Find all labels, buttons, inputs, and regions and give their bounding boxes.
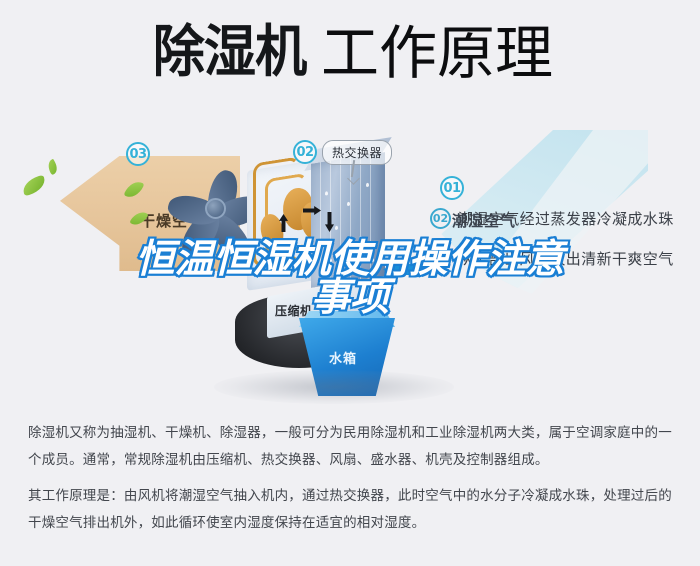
legend-item-label: 潮湿空气经过蒸发器冷凝成水珠 <box>458 208 674 229</box>
article-body: 除湿机又称为抽湿机、干燥机、除湿器，一般可分为民用除湿机和工业除湿机两大类，属于… <box>28 420 676 546</box>
title-bold-part: 除湿机 <box>153 25 306 81</box>
water-tank-label: 水箱 <box>329 348 357 367</box>
badge-02-icon: 02 <box>293 140 317 164</box>
legend-item-label: 由风机将潮湿空气抽入机内 <box>458 168 643 189</box>
water-droplet <box>366 183 369 187</box>
water-droplet <box>335 226 338 230</box>
infographic-page: 除湿机工作原理 干燥空气 <box>0 0 700 566</box>
legend-item: 02 潮湿空气经过蒸发器冷凝成水珠 <box>430 208 698 229</box>
badge-03-icon: 03 <box>126 142 150 166</box>
title-regular-part: 工作原理 <box>321 24 553 82</box>
water-droplet <box>325 191 328 195</box>
article-paragraph-1: 除湿机又称为抽湿机、干燥机、除湿器，一般可分为民用除湿机和工业除湿机两大类，属于… <box>28 420 676 474</box>
page-header: 除湿机工作原理 <box>0 24 700 82</box>
legend-badge-icon: 01 <box>430 168 451 189</box>
heat-exchanger-callout: 热交换器 <box>322 140 392 165</box>
legend-badge-icon: 02 <box>430 208 451 229</box>
overlay-headline-line2: 事项 <box>0 278 700 318</box>
machine-shadow <box>214 370 454 404</box>
article-paragraph-2: 其工作原理是：由风机将潮湿空气抽入机内，通过热交换器，此时空气中的水分子冷凝成水… <box>28 483 676 537</box>
page-title: 除湿机工作原理 <box>147 24 553 82</box>
leaf-icon <box>45 159 60 176</box>
fan-hub <box>205 198 226 219</box>
overlay-headline-line1: 恒温恒湿机使用操作注意 <box>0 240 700 280</box>
leaf-icon <box>20 175 47 197</box>
overlay-headline: 恒温恒湿机使用操作注意 事项 <box>0 240 700 318</box>
